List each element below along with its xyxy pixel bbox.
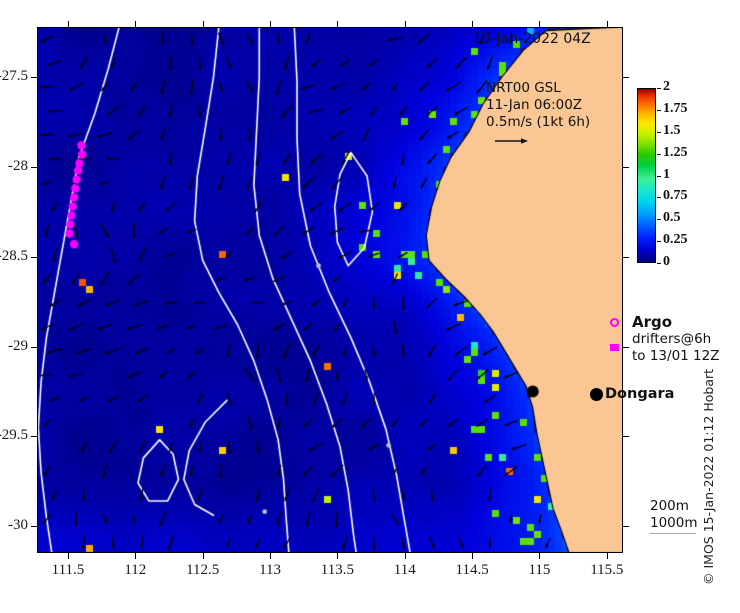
copyright-text: © IMOS 15-Jan-2022 01:12 Hobart	[701, 369, 716, 585]
vector-scale-label: 0.5m/s (1kt 6h)	[486, 114, 590, 131]
y-axis-tick	[31, 77, 37, 78]
colorbar-tick	[657, 219, 661, 220]
argo-circle-icon	[610, 318, 619, 327]
colorbar-tick-label: 0	[663, 254, 670, 270]
y-axis-tick-label: -27.5	[0, 68, 28, 85]
colorbar	[637, 88, 656, 263]
x-axis-tick	[270, 21, 271, 27]
x-axis-tick	[203, 21, 204, 27]
x-axis-tick	[405, 553, 406, 559]
depth-contour-legend: 200m 1000m	[650, 498, 698, 532]
x-axis-tick	[472, 21, 473, 27]
y-axis-tick	[31, 257, 37, 258]
y-axis-tick-label: -30	[0, 517, 28, 534]
colorbar-tick-label: 1	[663, 167, 670, 183]
colorbar-tick	[657, 110, 661, 111]
y-axis-tick	[623, 436, 629, 437]
colorbar-tick-label: 1.75	[663, 101, 688, 117]
x-axis-tick	[607, 553, 608, 559]
colorbar-tick	[657, 176, 661, 177]
x-axis-tick-label: 112.5	[168, 562, 238, 579]
x-axis-tick	[337, 553, 338, 559]
x-axis-tick	[203, 553, 204, 559]
y-axis-tick-label: -29.5	[0, 427, 28, 444]
argo-legend-title: Argo	[632, 313, 672, 331]
x-axis-tick-label: 114	[370, 562, 440, 579]
reference-arrow-icon	[494, 136, 528, 146]
depth-1000m-label: 1000m	[650, 515, 698, 532]
colorbar-tick-label: 2	[663, 79, 670, 95]
colorbar-tick	[657, 197, 661, 198]
colorbar-tick-label: 0.25	[663, 232, 688, 248]
y-axis-tick	[623, 167, 629, 168]
y-axis-tick	[31, 436, 37, 437]
x-axis-tick-label: 115.5	[572, 562, 642, 579]
figure-root: 13-Jan-2022 04Z NRT00 GSL 11-Jan 06:00Z …	[0, 0, 740, 592]
date-stamp: 13-Jan-2022 04Z	[473, 31, 591, 47]
dongara-label: Dongara	[605, 386, 674, 402]
x-axis-tick	[135, 553, 136, 559]
model-name-label: NRT00 GSL	[486, 80, 590, 97]
y-axis-tick	[623, 77, 629, 78]
y-axis-tick	[623, 257, 629, 258]
x-axis-tick-label: 114.5	[437, 562, 507, 579]
x-axis-tick	[270, 553, 271, 559]
colorbar-tick	[657, 88, 661, 89]
x-axis-tick-label: 113	[235, 562, 305, 579]
x-axis-tick	[68, 553, 69, 559]
y-axis-tick	[31, 526, 37, 527]
model-time-label: 11-Jan 06:00Z	[486, 97, 590, 114]
colorbar-tick	[657, 132, 661, 133]
depth-legend-rule	[650, 533, 696, 534]
argo-legend-line2: drifters@6h	[632, 331, 719, 348]
argo-legend-detail: drifters@6h to 13/01 12Z	[632, 331, 719, 365]
x-axis-tick	[337, 21, 338, 27]
depth-200m-label: 200m	[650, 498, 698, 515]
y-axis-tick-label: -29	[0, 338, 28, 355]
dongara-marker-icon	[590, 388, 603, 401]
y-axis-tick-label: -28	[0, 158, 28, 175]
colorbar-tick-label: 0.5	[663, 210, 681, 226]
x-axis-tick-label: 115	[504, 562, 574, 579]
colorbar-tick-label: 1.25	[663, 145, 688, 161]
colorbar-tick	[657, 241, 661, 242]
x-axis-tick	[539, 553, 540, 559]
colorbar-tick	[657, 154, 661, 155]
colorbar-tick-label: 1.5	[663, 123, 681, 139]
x-axis-tick	[539, 21, 540, 27]
argo-dot-icon	[610, 344, 619, 351]
x-axis-tick	[135, 21, 136, 27]
y-axis-tick	[31, 347, 37, 348]
x-axis-tick-label: 113.5	[302, 562, 372, 579]
x-axis-tick	[68, 21, 69, 27]
colorbar-tick	[657, 263, 661, 264]
y-axis-tick-label: -28.5	[0, 248, 28, 265]
x-axis-tick-label: 111.5	[33, 562, 103, 579]
y-axis-tick	[31, 167, 37, 168]
x-axis-tick	[607, 21, 608, 27]
model-info-block: NRT00 GSL 11-Jan 06:00Z 0.5m/s (1kt 6h)	[486, 80, 590, 131]
x-axis-tick-label: 112	[100, 562, 170, 579]
argo-legend-line3: to 13/01 12Z	[632, 348, 719, 365]
y-axis-tick	[623, 347, 629, 348]
x-axis-tick	[405, 21, 406, 27]
colorbar-tick-label: 0.75	[663, 188, 688, 204]
y-axis-tick	[623, 526, 629, 527]
x-axis-tick	[472, 553, 473, 559]
